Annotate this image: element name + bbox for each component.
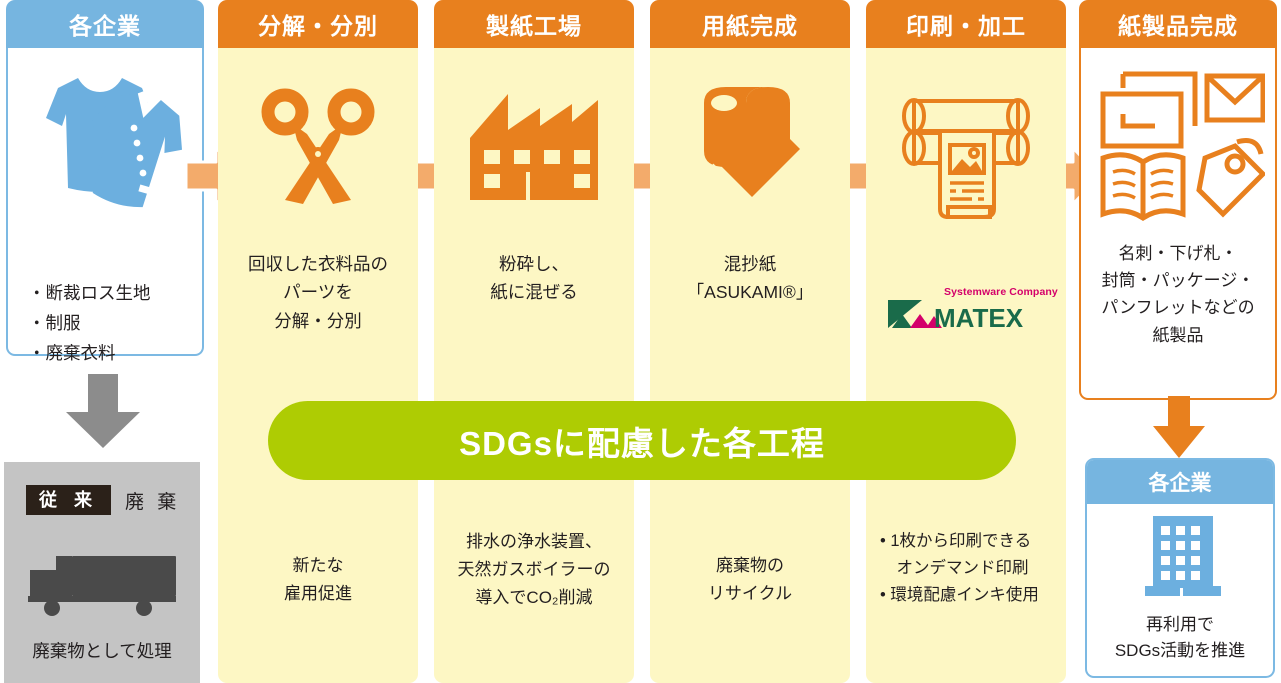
step-2-desc-line: 紙に混ぜる [434,278,634,306]
step-1-desc-line: パーツを [218,278,418,306]
step-1-note-line: 雇用促進 [218,580,418,608]
step-2-header: 製紙工場 [434,0,634,48]
product-description: 名刺・下げ札・ 封筒・パッケージ・ パンフレットなどの 紙製品 [1081,240,1275,349]
source-item-list: ・断裁ロス生地 ・制服 ・廃棄衣料 [28,278,198,368]
step-3-description: 混抄紙 「ASUKAMI®」 [650,250,850,307]
product-desc-line: パンフレットなどの [1081,294,1275,321]
source-item: ・廃棄衣料 [28,338,198,368]
recycle-card-header: 各企業 [1087,460,1273,504]
step-2-note: 排水の浄水装置、 天然ガスボイラーの 導入でCO₂削減 [434,528,634,612]
product-desc-line: 封筒・パッケージ・ [1081,267,1275,294]
source-card-body: ・断裁ロス生地 ・制服 ・廃棄衣料 [6,48,204,356]
step-3-desc-line: 「ASUKAMI®」 [650,278,850,306]
product-desc-line: 紙製品 [1081,322,1275,349]
step-column-2: 製紙工場 粉砕し、 紙に混ぜる 排水の浄水装置、 天然ガスボイラー [434,0,634,48]
source-item: ・断裁ロス生地 [28,278,198,308]
step-column-4: 印刷・加工 [866,0,1066,48]
matex-wordmark: MATEX [888,298,1048,330]
product-card: 紙製品完成 [1079,0,1277,48]
svg-text:MATEX: MATEX [934,303,1024,330]
sdgs-banner: SDGsに配慮した各工程 [268,401,1016,480]
step-4-note: • 1枚から印刷できる オンデマンド印刷 • 環境配慮インキ使用 [866,528,1066,610]
product-desc-line: 名刺・下げ札・ [1081,240,1275,267]
step-1-note-line: 新たな [218,552,418,580]
truck-icon [26,554,178,616]
clothing-icon [22,70,192,220]
step-4-icon-wrap [866,78,1066,228]
sdgs-banner-text: SDGsに配慮した各工程 [459,417,825,465]
step-2-note-line: 排水の浄水装置、 [434,528,634,556]
step-2-note-line: 導入でCO₂削減 [434,584,634,612]
step-4-header: 印刷・加工 [866,0,1066,48]
step-1-note: 新たな 雇用促進 [218,552,418,608]
source-company-card: 各企業 [6,0,204,48]
step-column-1: 分解・分別 回収した衣料品の パーツを 分解・分別 新たな 雇用促 [218,0,418,48]
paper-products-icon [1095,64,1265,224]
step-3-icon-wrap [650,72,850,222]
step-4-note-line: • 1枚から印刷できる [880,528,1066,555]
step-1-desc-line: 回収した衣料品の [218,250,418,278]
down-arrow-icon [62,374,144,448]
step-2-description: 粉砕し、 紙に混ぜる [434,250,634,307]
waste-badge-row: 従 来 廃 棄 [26,484,181,516]
recycle-company-card: 各企業 再利用で SDGs活動を推進 [1085,458,1275,678]
step-3-note-line: リサイクル [650,580,850,608]
printing-press-icon [896,83,1036,223]
step-2-desc-line: 粉砕し、 [434,250,634,278]
matex-tagline: Systemware Company [944,286,1058,298]
step-3-note-line: 廃棄物の [650,552,850,580]
scissors-icon [253,82,383,212]
building-icon [1145,516,1221,604]
product-card-header: 紙製品完成 [1079,0,1277,48]
recycle-caption: 再利用で SDGs活動を推進 [1087,612,1273,665]
source-item: ・制服 [28,308,198,338]
factory-icon [468,92,600,202]
step-2-note-line: 天然ガスボイラーの [434,556,634,584]
waste-label: 廃 棄 [125,487,180,514]
conventional-badge: 従 来 [26,485,111,516]
source-card-header: 各企業 [6,0,204,48]
step-1-desc-line: 分解・分別 [218,307,418,335]
step-4-note-line: オンデマンド印刷 [880,555,1066,582]
down-arrow-orange-icon [1151,396,1207,458]
step-1-header: 分解・分別 [218,0,418,48]
step-4-note-line: • 環境配慮インキ使用 [880,582,1066,609]
waste-disposal-box: 従 来 廃 棄 廃棄物として処理 [4,462,200,683]
step-3-desc-line: 混抄紙 [650,250,850,278]
matex-logo: Systemware Company MATEX [888,286,1048,330]
step-3-header: 用紙完成 [650,0,850,48]
step-column-3: 用紙完成 混抄紙 「ASUKAMI®」 [650,0,850,48]
step-3-note: 廃棄物の リサイクル [650,552,850,608]
recycle-caption-line: SDGs活動を推進 [1087,638,1273,664]
paper-roll-icon [684,77,816,217]
waste-caption: 廃棄物として処理 [4,638,200,663]
step-1-description: 回収した衣料品の パーツを 分解・分別 [218,250,418,335]
recycle-caption-line: 再利用で [1087,612,1273,638]
step-1-icon-wrap [218,72,418,222]
process-flow-diagram: 各企業 ・断裁ロス生地 ・制服 ・廃棄衣料 [0,0,1281,683]
step-2-icon-wrap [434,72,634,222]
product-card-body: 名刺・下げ札・ 封筒・パッケージ・ パンフレットなどの 紙製品 [1079,48,1277,400]
